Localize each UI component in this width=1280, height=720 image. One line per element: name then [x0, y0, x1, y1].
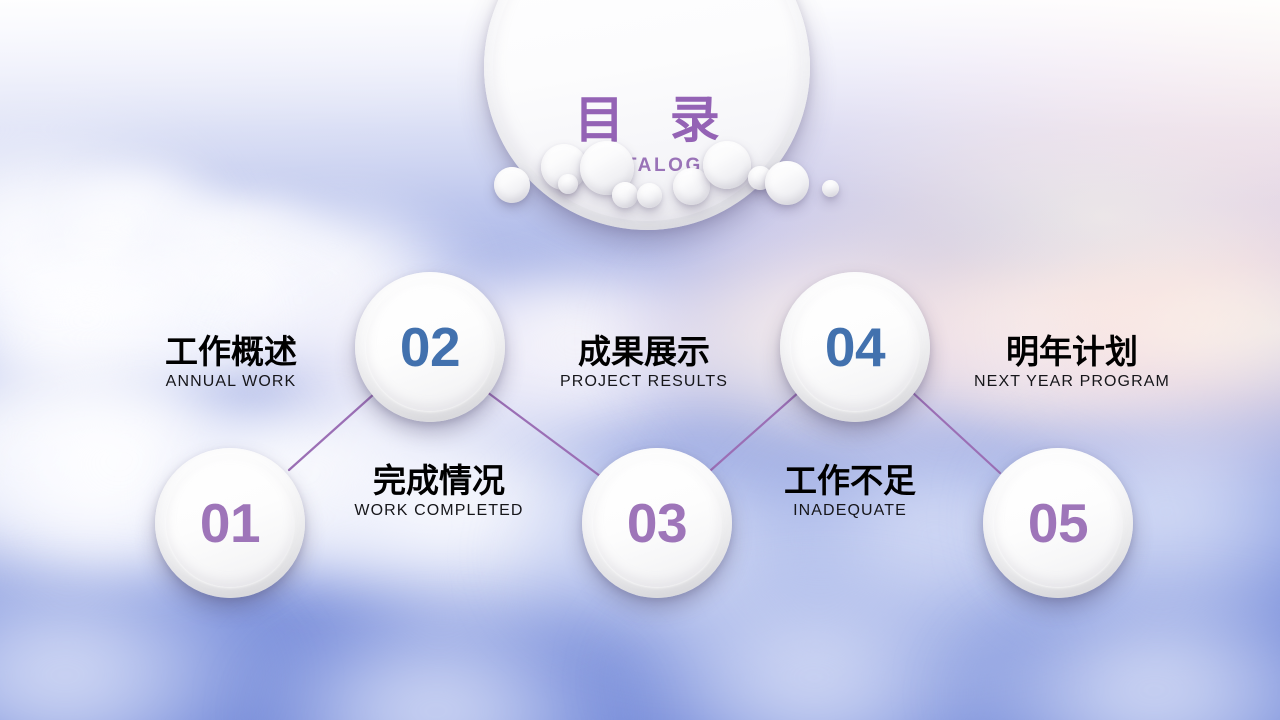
catalog-slide: 目 录 CATALOG 01 02 03 04 05: [0, 0, 1280, 720]
decorative-bubble: [494, 167, 530, 203]
catalog-label-05[interactable]: 明年计划 NEXT YEAR PROGRAM: [966, 334, 1178, 391]
catalog-label-03[interactable]: 成果展示 PROJECT RESULTS: [538, 334, 750, 391]
catalog-node-05-number: 05: [1028, 496, 1088, 551]
catalog-label-01[interactable]: 工作概述 ANNUAL WORK: [125, 334, 337, 391]
catalog-label-02-title-en: WORK COMPLETED: [333, 502, 545, 520]
catalog-label-04-title-cn: 工作不足: [744, 463, 956, 500]
catalog-node-04-inner: 04: [791, 283, 919, 411]
decorative-bubble: [637, 183, 662, 208]
catalog-node-01-number: 01: [200, 496, 260, 551]
catalog-node-03-number: 03: [627, 496, 687, 551]
catalog-node-05-inner: 05: [994, 459, 1122, 587]
catalog-node-02-inner: 02: [366, 283, 494, 411]
page-title: 目 录: [484, 94, 810, 147]
catalog-node-03[interactable]: 03: [582, 448, 732, 598]
catalog-node-01[interactable]: 01: [155, 448, 305, 598]
catalog-label-01-title-cn: 工作概述: [125, 334, 337, 371]
catalog-header-text: 目 录 CATALOG: [484, 94, 810, 177]
decorative-bubble: [612, 182, 638, 208]
catalog-label-05-title-en: NEXT YEAR PROGRAM: [966, 373, 1178, 391]
catalog-node-04[interactable]: 04: [780, 272, 930, 422]
catalog-node-04-number: 04: [825, 320, 885, 375]
catalog-label-04[interactable]: 工作不足 INADEQUATE: [744, 463, 956, 520]
decorative-bubble: [822, 180, 839, 197]
decorative-bubble: [703, 141, 751, 189]
catalog-node-02-number: 02: [400, 320, 460, 375]
catalog-label-04-title-en: INADEQUATE: [744, 502, 956, 520]
catalog-label-03-title-cn: 成果展示: [538, 334, 750, 371]
catalog-label-01-title-en: ANNUAL WORK: [125, 373, 337, 391]
catalog-node-02[interactable]: 02: [355, 272, 505, 422]
catalog-label-02-title-cn: 完成情况: [333, 463, 545, 500]
catalog-label-03-title-en: PROJECT RESULTS: [538, 373, 750, 391]
catalog-label-02[interactable]: 完成情况 WORK COMPLETED: [333, 463, 545, 520]
catalog-node-03-inner: 03: [593, 459, 721, 587]
catalog-node-01-inner: 01: [166, 459, 294, 587]
catalog-node-05[interactable]: 05: [983, 448, 1133, 598]
decorative-bubble: [765, 161, 809, 205]
decorative-bubble: [558, 174, 578, 194]
catalog-label-05-title-cn: 明年计划: [966, 334, 1178, 371]
